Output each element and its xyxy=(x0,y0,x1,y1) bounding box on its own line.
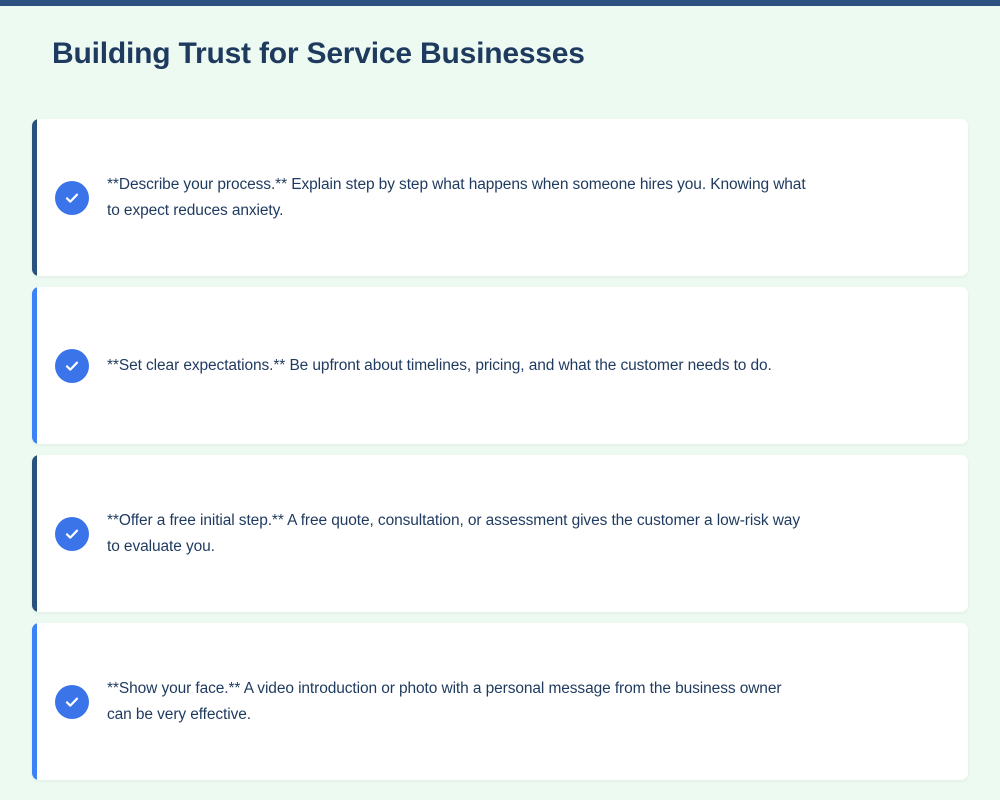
top-accent-strip xyxy=(0,0,1000,6)
list-item-text: **Show your face.** A video introduction… xyxy=(107,676,807,728)
tips-card-list: **Describe your process.** Explain step … xyxy=(32,119,968,780)
card-accent-bar xyxy=(32,623,37,780)
list-item-text: **Offer a free initial step.** A free qu… xyxy=(107,508,807,560)
check-circle-icon xyxy=(55,349,89,383)
card-accent-bar xyxy=(32,455,37,612)
list-item-text: **Describe your process.** Explain step … xyxy=(107,172,807,224)
check-circle-icon xyxy=(55,517,89,551)
card-accent-bar xyxy=(32,287,37,444)
check-circle-icon xyxy=(55,685,89,719)
card-accent-bar xyxy=(32,119,37,276)
list-item: **Describe your process.** Explain step … xyxy=(32,119,968,276)
check-circle-icon xyxy=(55,181,89,215)
list-item: **Show your face.** A video introduction… xyxy=(32,623,968,780)
page-title: Building Trust for Service Businesses xyxy=(52,32,585,76)
list-item: **Offer a free initial step.** A free qu… xyxy=(32,455,968,612)
list-item-text: **Set clear expectations.** Be upfront a… xyxy=(107,353,772,379)
list-item: **Set clear expectations.** Be upfront a… xyxy=(32,287,968,444)
